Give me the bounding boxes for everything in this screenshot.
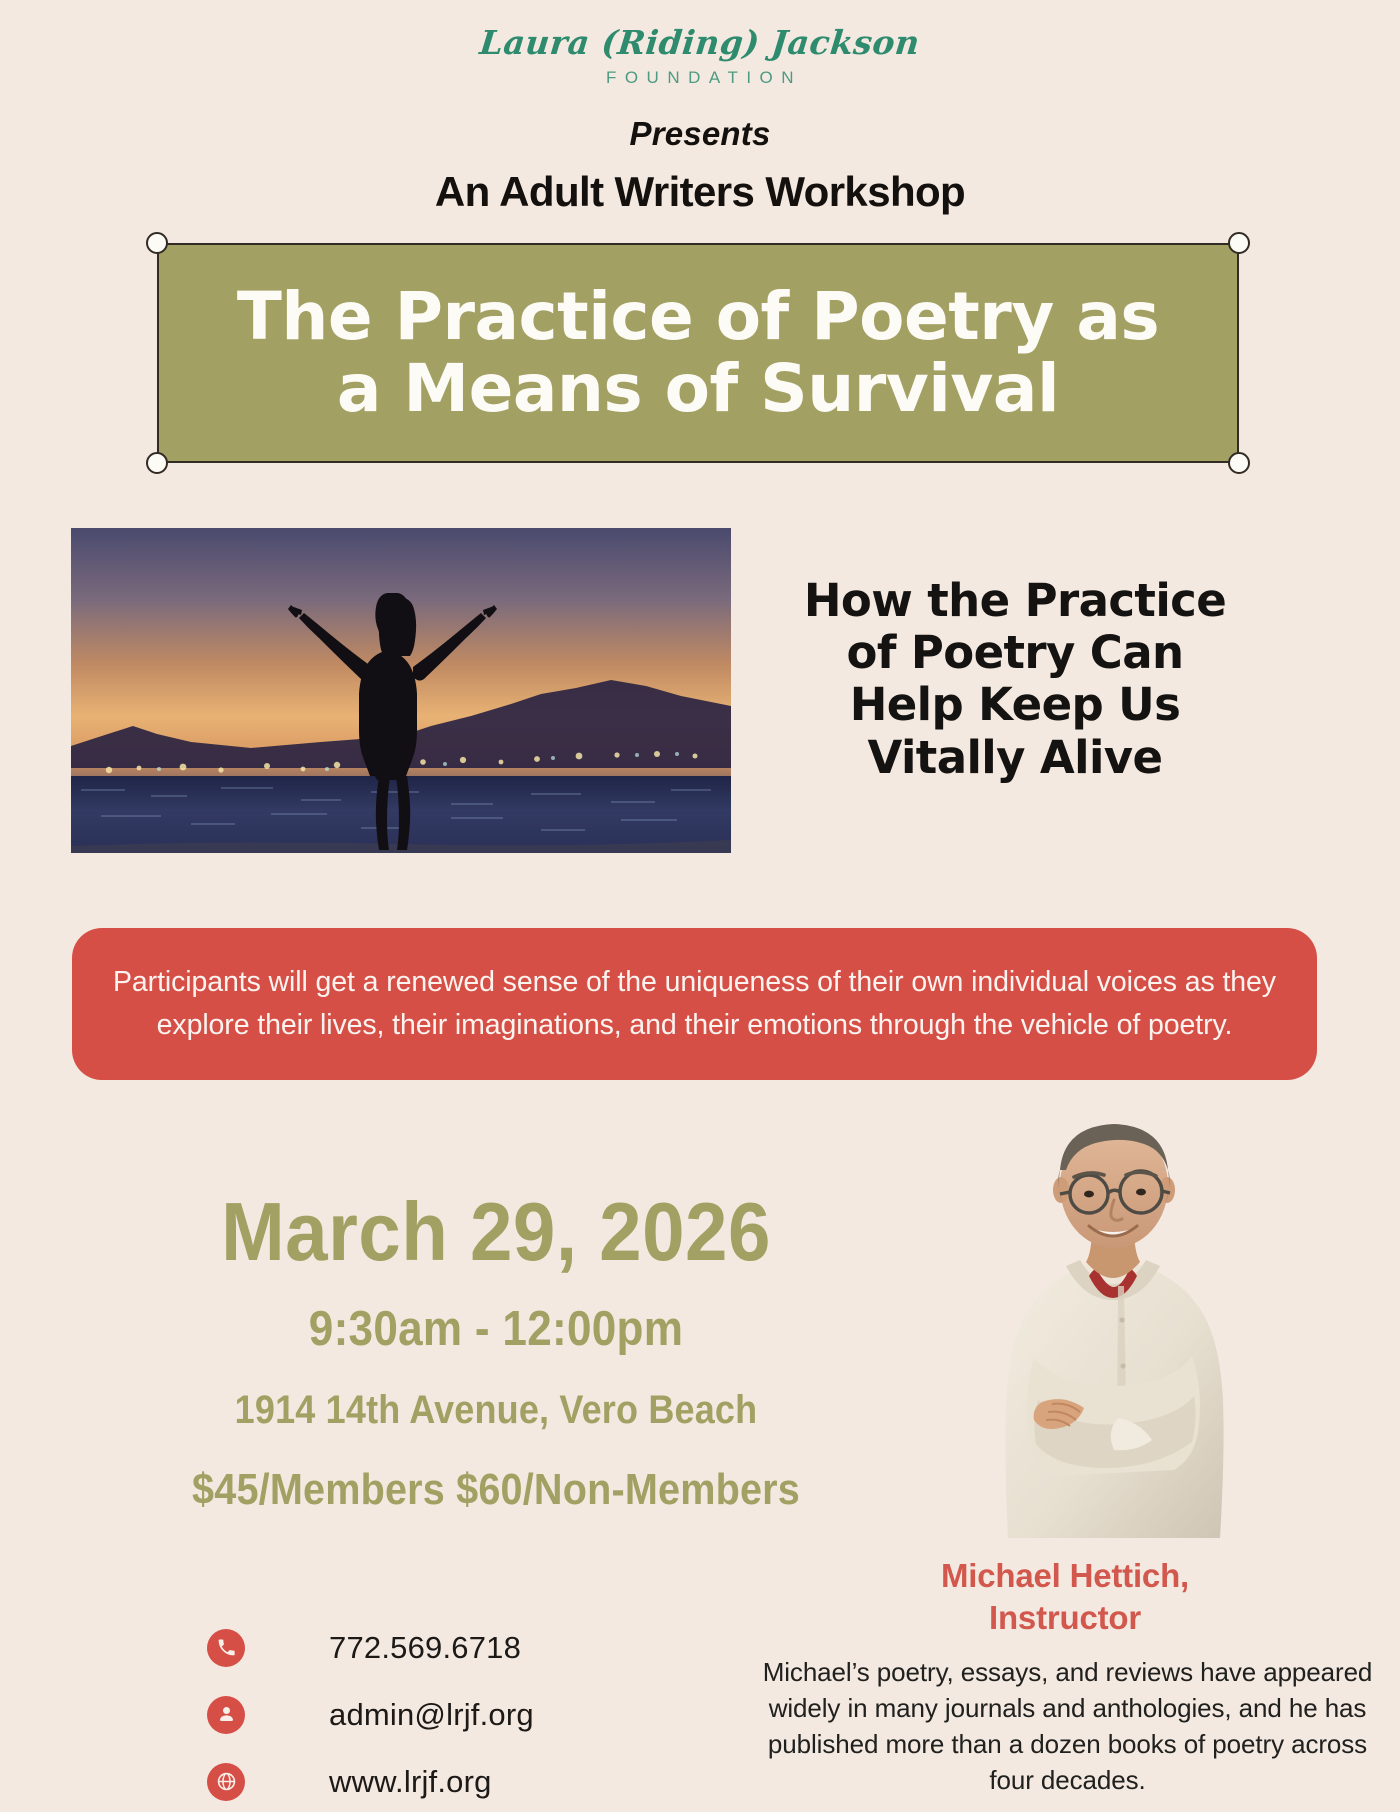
contact-row-website[interactable]: www.lrjf.org [207,1752,534,1811]
poster-title: The Practice of Poetry as a Means of Sur… [219,281,1177,425]
presents-label: Presents [0,115,1400,153]
title-banner-background: The Practice of Poetry as a Means of Sur… [157,243,1239,463]
hero-headline-line-4: Vitally Alive [868,731,1163,784]
resize-handle-top-left[interactable] [146,232,168,254]
instructor-name-line-1: Michael Hettich, [941,1557,1189,1594]
instructor-name: Michael Hettich, Instructor [770,1555,1360,1639]
event-price: $45/Members $60/Non-Members [136,1468,856,1512]
description-text: Participants will get a renewed sense of… [72,961,1317,1048]
workshop-poster: Laura (Riding) Jackson FOUNDATION Presen… [0,0,1400,1812]
event-time: 9:30am - 12:00pm [136,1305,856,1354]
phone-icon [207,1629,245,1667]
person-icon [207,1696,245,1734]
resize-handle-bottom-right[interactable] [1228,452,1250,474]
instructor-bio: Michael’s poetry, essays, and reviews ha… [760,1655,1375,1799]
hero-headline-line-1: How the Practice [804,574,1226,627]
logo-foundation-text: FOUNDATION [0,68,1400,88]
poster-title-line-1: The Practice of Poetry as [237,278,1159,355]
contact-row-email[interactable]: admin@lrjf.org [207,1685,534,1744]
event-address: 1914 14th Avenue, Vero Beach [136,1390,856,1430]
description-callout-box: Participants will get a renewed sense of… [72,928,1317,1080]
hero-headline-line-3: Help Keep Us [850,678,1181,731]
contact-value-phone: 772.569.6718 [329,1630,521,1666]
hero-headline-line-2: of Poetry Can [847,626,1184,679]
event-details: March 29, 2026 9:30am - 12:00pm 1914 14t… [96,1190,896,1512]
contact-value-email: admin@lrjf.org [329,1697,534,1733]
title-banner: The Practice of Poetry as a Means of Sur… [157,243,1239,463]
contact-list: 772.569.6718 admin@lrjf.org www.lrjf.org [207,1618,534,1812]
contact-value-website: www.lrjf.org [329,1764,492,1800]
contact-row-phone[interactable]: 772.569.6718 [207,1618,534,1677]
hero-headline: How the Practice of Poetry Can Help Keep… [745,575,1285,784]
poster-title-line-2: a Means of Survival [337,350,1059,427]
organization-logo: Laura (Riding) Jackson FOUNDATION [0,26,1400,88]
globe-icon [207,1763,245,1801]
workshop-subtitle: An Adult Writers Workshop [0,168,1400,216]
instructor-role-line: Instructor [989,1599,1141,1636]
event-date: March 29, 2026 [128,1190,864,1273]
instructor-portrait-photo [968,1108,1258,1538]
hero-photo-sunset-silhouette [71,528,731,853]
resize-handle-bottom-left[interactable] [146,452,168,474]
resize-handle-top-right[interactable] [1228,232,1250,254]
logo-script-text: Laura (Riding) Jackson [478,26,921,59]
